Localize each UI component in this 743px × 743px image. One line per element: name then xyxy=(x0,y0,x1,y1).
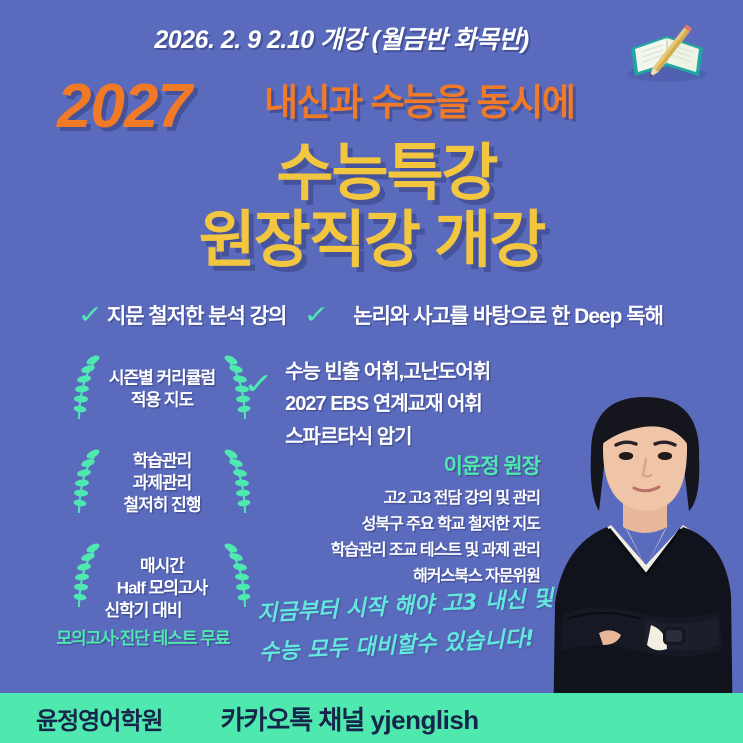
check-icon: ✓ xyxy=(77,303,103,328)
laurel-badge: 시즌별 커리큘럼적용 지도 xyxy=(62,352,262,426)
headline-year: 2027 xyxy=(57,76,191,138)
laurel-branch-icon xyxy=(220,447,254,519)
feature-text-deep-reading: 논리와 사고를 바탕으로 한 Deep 독해 xyxy=(353,300,663,330)
laurel-badge: 학습관리과제관리철저히 진행 xyxy=(62,446,262,520)
feature-text-analysis: 지문 철저한 분석 강의 xyxy=(107,300,286,330)
promo-poster: 2026. 2. 9 2.10 개강 (월금반 화목반) 2027 내신과 수능 xyxy=(0,0,743,743)
free-test-note-line-2: 모의고사·진단 테스트 무료 xyxy=(18,624,268,649)
headline-line-2: 원장직강 개강 xyxy=(0,209,743,272)
handwritten-note: 지금부터 시작 해야 고3 내신 및 수능 모두 대비할수 있습니다! xyxy=(256,580,556,672)
vocabulary-feature-block: ✓ 수능 빈출 어휘,고난도어휘2027 EBS 연계교재 어휘스파르타식 암기 xyxy=(246,356,490,453)
laurel-badge-list: 시즌별 커리큘럼적용 지도 xyxy=(62,352,262,614)
instructor-credentials-block: 이윤정 원장 고2 고3 전담 강의 및 관리성북구 주요 학교 철저한 지도학… xyxy=(331,450,540,590)
headline-top-row: 2027 내신과 수능을 동시에 xyxy=(0,78,743,140)
free-test-note-line-1: 신학기 대비 xyxy=(18,596,268,621)
check-icon: ✓ xyxy=(243,370,274,453)
feature-check-row: ✓ 지문 철저한 분석 강의 ✓ 논리와 사고를 바탕으로 한 Deep 독해 xyxy=(0,300,743,330)
check-icon: ✓ xyxy=(304,303,330,328)
headline-subtitle: 내신과 수능을 동시에 xyxy=(264,84,574,121)
footer-contact-bar: 윤정영어학원 카카오톡 채널 yjenglish xyxy=(0,693,743,743)
kakao-channel-handle: yjenglish xyxy=(370,705,478,735)
headline-block: 2027 내신과 수능을 동시에 수능특강 원장직강 개강 xyxy=(0,78,743,272)
free-test-note: 신학기 대비 모의고사·진단 테스트 무료 xyxy=(18,596,268,649)
instructor-portrait xyxy=(533,387,743,743)
kakao-channel-label: 카카오톡 채널 xyxy=(220,705,364,735)
headline-line-1: 수능특강 xyxy=(0,142,743,205)
open-book-with-pencil-icon xyxy=(621,18,713,86)
kakao-channel-block[interactable]: 카카오톡 채널 yjenglish xyxy=(220,700,478,737)
instructor-name: 이윤정 원장 xyxy=(331,450,540,480)
academy-name: 윤정영어학원 xyxy=(36,701,162,736)
instructor-credentials-text: 고2 고3 전담 강의 및 관리성북구 주요 학교 철저한 지도학습관리 조교 … xyxy=(331,486,540,590)
vocabulary-feature-text: 수능 빈출 어휘,고난도어휘2027 EBS 연계교재 어휘스파르타식 암기 xyxy=(285,356,490,453)
